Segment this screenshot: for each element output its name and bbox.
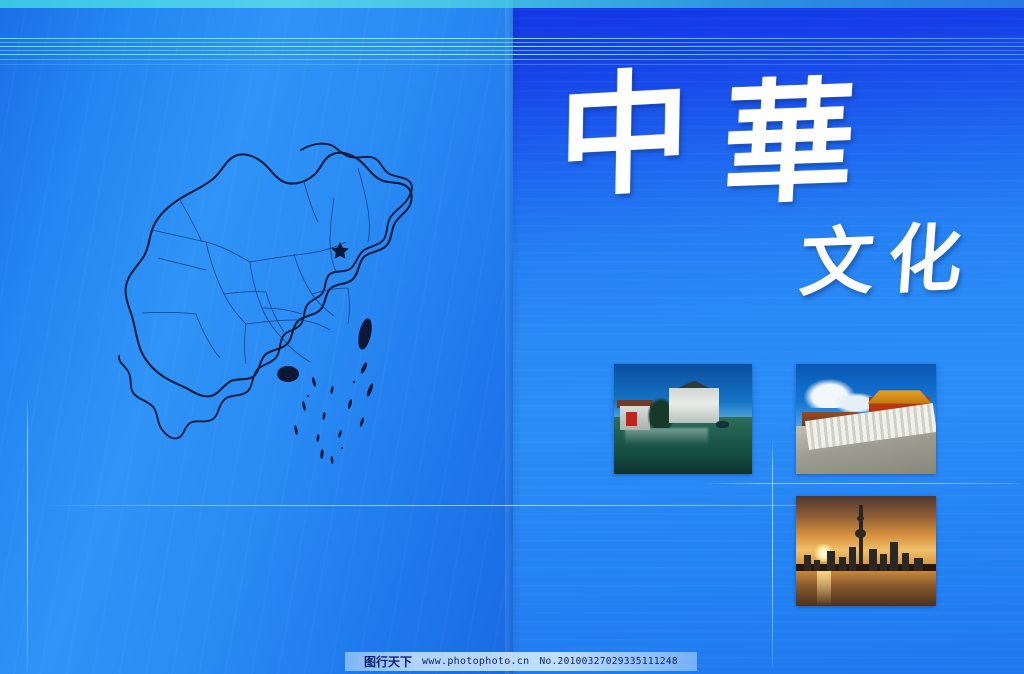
watermark-id: No.20100327029335111248 [540,656,678,667]
photo-marble-boat-hull [669,388,719,423]
photo-building-1 [804,555,811,570]
photo-oriental-pearl-lower-orb [855,529,866,538]
photo-forbidden-city [796,364,936,474]
photo-building-7 [880,554,887,571]
photo-marble-boat [614,364,752,474]
photo-reflection [625,428,708,446]
poster-title: 中 華 文化 [548,64,1018,294]
watermark-bar: 图行天下 www.photophoto.cn No.20100327029335… [345,652,697,671]
photo-red-sign [626,412,637,425]
photo-building-5 [849,547,856,571]
photo-building-6 [869,549,877,571]
photo-building-8 [902,553,909,571]
china-map [118,138,428,468]
photo-building-3 [827,551,835,571]
photo-building-9 [914,558,924,571]
photo-shanghai-skyline [796,496,936,606]
watermark-site-name: 图行天下 [364,653,412,670]
title-subtitle: 文化 [797,221,978,301]
capital-star-marker [331,242,348,259]
top-accent-band [0,0,1024,8]
poster-canvas: 中 華 文化 [0,0,1024,674]
photo-small-boat [716,421,728,428]
photo-building-4 [839,557,846,571]
photo-building-2 [814,560,820,571]
title-char-zhong: 中 [557,66,691,205]
photo-sun-reflection [817,571,831,606]
photo-jinmao-tower [890,542,898,571]
title-char-hua: 華 [720,76,859,213]
watermark-url: www.photophoto.cn [422,656,529,667]
